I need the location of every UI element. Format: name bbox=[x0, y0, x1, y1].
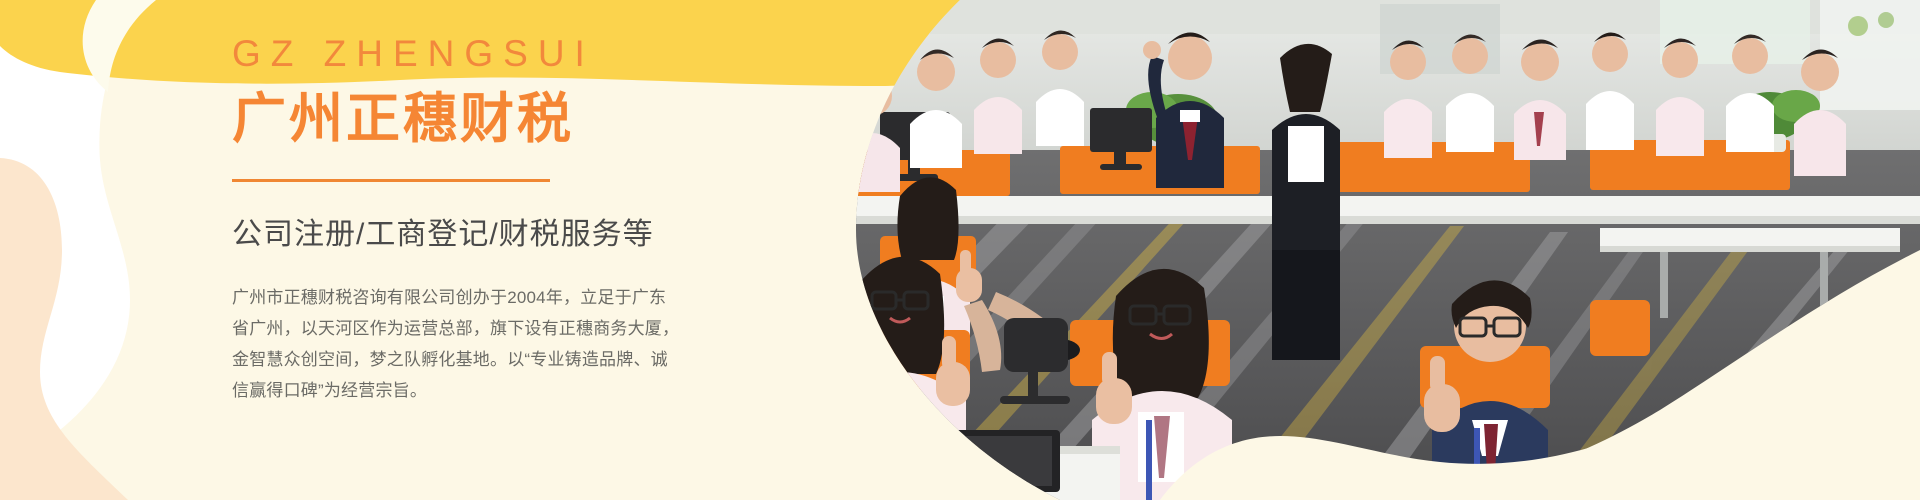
peach-blob bbox=[0, 158, 128, 500]
white-notch bbox=[83, 0, 156, 92]
photo-artwork bbox=[760, 0, 1920, 500]
brand-pinyin-eyebrow: GZ ZHENGSUI bbox=[232, 0, 752, 75]
services-tagline: 公司注册/工商登记/财税服务等 bbox=[232, 182, 752, 254]
white-left-wedge bbox=[0, 0, 150, 470]
company-hero-banner: GZ ZHENGSUI 广州正穗财税 公司注册/工商登记/财税服务等 广州市正穗… bbox=[0, 0, 1920, 500]
hero-text-column: GZ ZHENGSUI 广州正穗财税 公司注册/工商登记/财税服务等 广州市正穗… bbox=[232, 0, 752, 500]
company-description: 广州市正穗财税咨询有限公司创办于2004年，立足于广东省广州，以天河区作为运营总… bbox=[232, 254, 682, 406]
office-team-photo bbox=[760, 0, 1920, 500]
brand-title: 广州正穗财税 bbox=[232, 75, 752, 149]
